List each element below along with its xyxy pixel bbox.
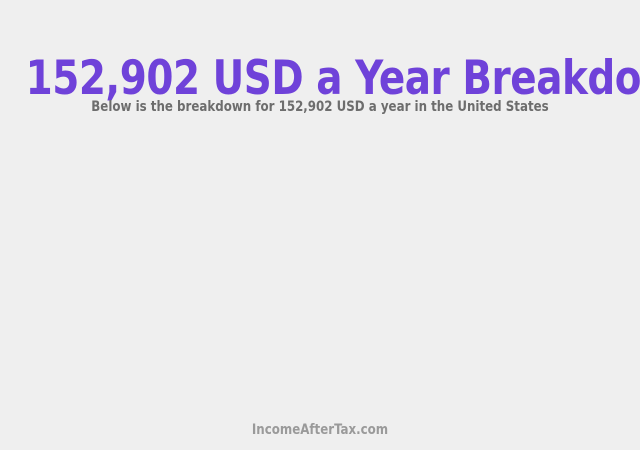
- breakdown-content-area: [0, 120, 640, 412]
- site-footer-label: IncomeAfterTax.com: [19, 421, 621, 439]
- breakdown-page: 152,902 USD a Year Breakdown Below is th…: [0, 0, 640, 450]
- page-subtitle: Below is the breakdown for 152,902 USD a…: [19, 98, 621, 116]
